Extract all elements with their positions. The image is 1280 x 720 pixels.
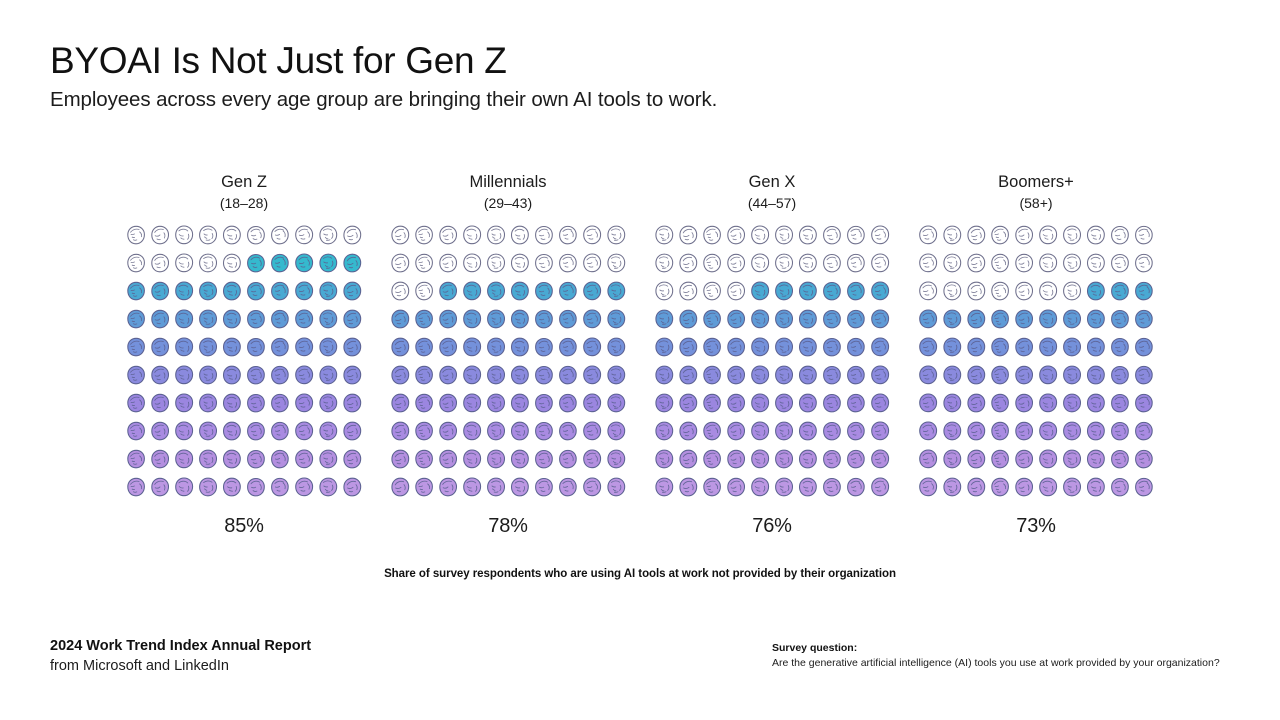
person-icon-empty bbox=[916, 279, 940, 307]
person-icon-filled bbox=[676, 475, 700, 503]
person-icon-filled bbox=[484, 475, 508, 503]
person-icon-empty bbox=[652, 279, 676, 307]
person-icon-empty bbox=[1036, 279, 1060, 307]
person-icon-filled bbox=[1084, 307, 1108, 335]
person-icon-filled bbox=[556, 447, 580, 475]
person-icon-filled bbox=[1132, 279, 1156, 307]
person-icon-filled bbox=[316, 279, 340, 307]
person-icon-filled bbox=[1132, 335, 1156, 363]
person-icon-filled bbox=[268, 335, 292, 363]
person-icon-filled bbox=[916, 335, 940, 363]
group-age-range: (29–43) bbox=[469, 194, 546, 212]
person-icon-filled bbox=[172, 279, 196, 307]
person-icon-filled bbox=[172, 475, 196, 503]
person-icon-filled bbox=[916, 475, 940, 503]
person-icon-filled bbox=[556, 279, 580, 307]
person-icon-filled bbox=[580, 391, 604, 419]
person-icon-filled bbox=[964, 335, 988, 363]
person-icon-filled bbox=[292, 307, 316, 335]
person-icon-filled bbox=[748, 363, 772, 391]
person-icon-empty bbox=[796, 251, 820, 279]
person-icon-filled bbox=[460, 363, 484, 391]
person-icon-empty bbox=[1012, 279, 1036, 307]
person-icon-filled bbox=[1108, 335, 1132, 363]
person-icon-filled bbox=[316, 475, 340, 503]
person-icon-filled bbox=[220, 391, 244, 419]
person-icon-filled bbox=[940, 335, 964, 363]
person-icon-filled bbox=[604, 391, 628, 419]
person-icon-filled bbox=[340, 307, 364, 335]
person-icon-filled bbox=[316, 363, 340, 391]
person-icon-empty bbox=[388, 279, 412, 307]
person-icon-filled bbox=[508, 307, 532, 335]
person-icon-filled bbox=[460, 447, 484, 475]
group-age-range: (58+) bbox=[998, 194, 1074, 212]
person-icon-filled bbox=[220, 307, 244, 335]
person-icon-empty bbox=[220, 251, 244, 279]
person-icon-filled bbox=[460, 475, 484, 503]
person-icon-empty bbox=[556, 223, 580, 251]
person-icon-filled bbox=[1132, 363, 1156, 391]
person-icon-filled bbox=[412, 419, 436, 447]
person-icon-empty bbox=[1084, 251, 1108, 279]
person-icon-filled bbox=[1108, 307, 1132, 335]
person-icon-filled bbox=[484, 419, 508, 447]
person-icon-filled bbox=[964, 419, 988, 447]
person-icon-filled bbox=[1012, 335, 1036, 363]
person-icon-filled bbox=[436, 307, 460, 335]
pictogram-grid bbox=[916, 223, 1156, 503]
person-icon-filled bbox=[820, 279, 844, 307]
person-icon-filled bbox=[172, 391, 196, 419]
person-icon-empty bbox=[1132, 223, 1156, 251]
person-icon-filled bbox=[292, 475, 316, 503]
person-icon-filled bbox=[868, 391, 892, 419]
person-icon-filled bbox=[436, 279, 460, 307]
person-icon-filled bbox=[1108, 419, 1132, 447]
person-icon-filled bbox=[388, 419, 412, 447]
person-icon-empty bbox=[1084, 223, 1108, 251]
person-icon-filled bbox=[844, 307, 868, 335]
person-icon-empty bbox=[1108, 251, 1132, 279]
person-icon-filled bbox=[916, 447, 940, 475]
person-icon-filled bbox=[700, 335, 724, 363]
person-icon-filled bbox=[868, 279, 892, 307]
person-icon-empty bbox=[388, 223, 412, 251]
person-icon-filled bbox=[1084, 335, 1108, 363]
person-icon-filled bbox=[868, 335, 892, 363]
person-icon-filled bbox=[916, 307, 940, 335]
person-icon-empty bbox=[340, 223, 364, 251]
person-icon-filled bbox=[340, 251, 364, 279]
person-icon-filled bbox=[124, 475, 148, 503]
person-icon-filled bbox=[1036, 335, 1060, 363]
person-icon-empty bbox=[1108, 223, 1132, 251]
person-icon-filled bbox=[604, 447, 628, 475]
person-icon-filled bbox=[1132, 391, 1156, 419]
person-icon-filled bbox=[412, 475, 436, 503]
person-icon-filled bbox=[436, 419, 460, 447]
person-icon-filled bbox=[1036, 363, 1060, 391]
survey-question-label: Survey question: bbox=[772, 641, 1242, 656]
person-icon-empty bbox=[484, 251, 508, 279]
person-icon-filled bbox=[820, 363, 844, 391]
person-icon-filled bbox=[340, 391, 364, 419]
person-icon-empty bbox=[1060, 251, 1084, 279]
person-icon-empty bbox=[988, 251, 1012, 279]
person-icon-filled bbox=[604, 419, 628, 447]
person-icon-empty bbox=[124, 223, 148, 251]
person-icon-filled bbox=[124, 391, 148, 419]
person-icon-filled bbox=[796, 419, 820, 447]
footer-attribution: 2024 Work Trend Index Annual Report from… bbox=[50, 637, 311, 676]
person-icon-filled bbox=[268, 419, 292, 447]
person-icon-empty bbox=[436, 251, 460, 279]
person-icon-filled bbox=[220, 419, 244, 447]
person-icon-empty bbox=[412, 279, 436, 307]
person-icon-filled bbox=[124, 447, 148, 475]
person-icon-filled bbox=[172, 447, 196, 475]
group-age-range: (44–57) bbox=[748, 194, 796, 212]
chart-caption: Share of survey respondents who are usin… bbox=[0, 568, 1280, 580]
person-icon-empty bbox=[412, 251, 436, 279]
person-icon-filled bbox=[172, 419, 196, 447]
person-icon-empty bbox=[652, 251, 676, 279]
person-icon-filled bbox=[244, 335, 268, 363]
person-icon-filled bbox=[772, 447, 796, 475]
person-icon-filled bbox=[940, 419, 964, 447]
person-icon-filled bbox=[148, 279, 172, 307]
person-icon-empty bbox=[844, 251, 868, 279]
person-icon-empty bbox=[820, 251, 844, 279]
person-icon-empty bbox=[676, 279, 700, 307]
person-icon-filled bbox=[388, 307, 412, 335]
person-icon-empty bbox=[532, 251, 556, 279]
person-icon-filled bbox=[1132, 475, 1156, 503]
person-icon-filled bbox=[556, 363, 580, 391]
person-icon-empty bbox=[556, 251, 580, 279]
person-icon-empty bbox=[460, 251, 484, 279]
person-icon-filled bbox=[220, 335, 244, 363]
person-icon-filled bbox=[772, 335, 796, 363]
person-icon-filled bbox=[652, 335, 676, 363]
person-icon-empty bbox=[916, 251, 940, 279]
person-icon-filled bbox=[820, 419, 844, 447]
person-icon-filled bbox=[340, 279, 364, 307]
person-icon-filled bbox=[1060, 391, 1084, 419]
person-icon-filled bbox=[1012, 391, 1036, 419]
person-icon-filled bbox=[940, 447, 964, 475]
person-icon-filled bbox=[748, 335, 772, 363]
person-icon-filled bbox=[532, 391, 556, 419]
person-icon-empty bbox=[772, 223, 796, 251]
person-icon-filled bbox=[292, 391, 316, 419]
person-icon-filled bbox=[508, 335, 532, 363]
person-icon-filled bbox=[556, 391, 580, 419]
header: BYOAI Is Not Just for Gen Z Employees ac… bbox=[50, 40, 1240, 112]
person-icon-empty bbox=[1036, 251, 1060, 279]
person-icon-empty bbox=[196, 223, 220, 251]
person-icon-filled bbox=[244, 447, 268, 475]
person-icon-filled bbox=[796, 335, 820, 363]
person-icon-filled bbox=[316, 251, 340, 279]
person-icon-filled bbox=[676, 363, 700, 391]
person-icon-empty bbox=[700, 279, 724, 307]
person-icon-empty bbox=[172, 223, 196, 251]
person-icon-empty bbox=[148, 251, 172, 279]
person-icon-filled bbox=[316, 419, 340, 447]
person-icon-filled bbox=[868, 419, 892, 447]
person-icon-filled bbox=[532, 279, 556, 307]
person-icon-filled bbox=[244, 419, 268, 447]
person-icon-filled bbox=[484, 447, 508, 475]
person-icon-filled bbox=[772, 307, 796, 335]
person-icon-empty bbox=[988, 223, 1012, 251]
person-icon-empty bbox=[964, 279, 988, 307]
group-name: Millennials bbox=[469, 172, 546, 193]
person-icon-filled bbox=[724, 335, 748, 363]
person-icon-filled bbox=[604, 335, 628, 363]
person-icon-filled bbox=[196, 447, 220, 475]
person-icon-filled bbox=[460, 279, 484, 307]
person-icon-filled bbox=[196, 335, 220, 363]
person-icon-filled bbox=[412, 307, 436, 335]
person-icon-empty bbox=[796, 223, 820, 251]
person-icon-empty bbox=[964, 223, 988, 251]
person-icon-filled bbox=[652, 475, 676, 503]
person-icon-empty bbox=[1060, 223, 1084, 251]
person-icon-filled bbox=[604, 307, 628, 335]
person-icon-filled bbox=[1012, 363, 1036, 391]
person-icon-empty bbox=[268, 223, 292, 251]
person-icon-filled bbox=[532, 419, 556, 447]
person-icon-filled bbox=[580, 279, 604, 307]
person-icon-filled bbox=[220, 279, 244, 307]
age-group-boomers: Boomers+(58+)73% bbox=[908, 172, 1164, 538]
person-icon-empty bbox=[244, 223, 268, 251]
person-icon-filled bbox=[964, 307, 988, 335]
person-icon-filled bbox=[244, 391, 268, 419]
person-icon-filled bbox=[148, 307, 172, 335]
group-name: Boomers+ bbox=[998, 172, 1074, 193]
person-icon-filled bbox=[388, 447, 412, 475]
person-icon-filled bbox=[796, 363, 820, 391]
pictogram-grid bbox=[388, 223, 628, 503]
person-icon-filled bbox=[868, 363, 892, 391]
person-icon-filled bbox=[220, 475, 244, 503]
group-percentage: 76% bbox=[752, 515, 791, 538]
person-icon-empty bbox=[724, 223, 748, 251]
person-icon-filled bbox=[748, 307, 772, 335]
person-icon-filled bbox=[412, 363, 436, 391]
person-icon-filled bbox=[604, 475, 628, 503]
person-icon-filled bbox=[316, 447, 340, 475]
person-icon-filled bbox=[172, 363, 196, 391]
person-icon-filled bbox=[1132, 307, 1156, 335]
person-icon-empty bbox=[1012, 223, 1036, 251]
person-icon-empty bbox=[940, 279, 964, 307]
person-icon-filled bbox=[1084, 419, 1108, 447]
person-icon-filled bbox=[508, 475, 532, 503]
person-icon-filled bbox=[988, 363, 1012, 391]
person-icon-empty bbox=[532, 223, 556, 251]
person-icon-empty bbox=[820, 223, 844, 251]
person-icon-empty bbox=[220, 223, 244, 251]
person-icon-filled bbox=[268, 279, 292, 307]
person-icon-filled bbox=[820, 475, 844, 503]
person-icon-filled bbox=[676, 419, 700, 447]
person-icon-filled bbox=[292, 279, 316, 307]
person-icon-filled bbox=[700, 391, 724, 419]
person-icon-filled bbox=[1084, 391, 1108, 419]
person-icon-filled bbox=[292, 363, 316, 391]
person-icon-filled bbox=[1060, 419, 1084, 447]
person-icon-filled bbox=[700, 307, 724, 335]
person-icon-filled bbox=[796, 475, 820, 503]
person-icon-filled bbox=[868, 475, 892, 503]
person-icon-filled bbox=[724, 475, 748, 503]
person-icon-filled bbox=[436, 447, 460, 475]
person-icon-filled bbox=[388, 335, 412, 363]
group-percentage: 73% bbox=[1016, 515, 1055, 538]
page-title: BYOAI Is Not Just for Gen Z bbox=[50, 40, 1240, 81]
person-icon-filled bbox=[988, 447, 1012, 475]
person-icon-filled bbox=[772, 391, 796, 419]
person-icon-filled bbox=[292, 447, 316, 475]
person-icon-filled bbox=[748, 475, 772, 503]
person-icon-filled bbox=[676, 335, 700, 363]
person-icon-filled bbox=[532, 335, 556, 363]
person-icon-filled bbox=[508, 391, 532, 419]
person-icon-filled bbox=[412, 391, 436, 419]
person-icon-empty bbox=[940, 251, 964, 279]
person-icon-filled bbox=[676, 307, 700, 335]
person-icon-filled bbox=[748, 279, 772, 307]
person-icon-filled bbox=[1084, 279, 1108, 307]
age-group-gen-z: Gen Z(18–28)85% bbox=[116, 172, 372, 538]
group-name: Gen Z bbox=[220, 172, 268, 193]
person-icon-filled bbox=[340, 363, 364, 391]
group-header: Millennials(29–43) bbox=[469, 172, 546, 212]
person-icon-empty bbox=[1012, 251, 1036, 279]
person-icon-filled bbox=[316, 335, 340, 363]
person-icon-filled bbox=[820, 307, 844, 335]
person-icon-filled bbox=[964, 447, 988, 475]
person-icon-empty bbox=[196, 251, 220, 279]
person-icon-filled bbox=[1084, 447, 1108, 475]
person-icon-filled bbox=[868, 447, 892, 475]
person-icon-filled bbox=[268, 251, 292, 279]
person-icon-filled bbox=[484, 307, 508, 335]
person-icon-filled bbox=[508, 447, 532, 475]
person-icon-filled bbox=[1108, 279, 1132, 307]
person-icon-filled bbox=[652, 307, 676, 335]
person-icon-filled bbox=[124, 419, 148, 447]
person-icon-filled bbox=[436, 363, 460, 391]
person-icon-filled bbox=[580, 307, 604, 335]
person-icon-filled bbox=[1060, 335, 1084, 363]
person-icon-empty bbox=[508, 223, 532, 251]
person-icon-empty bbox=[1132, 251, 1156, 279]
person-icon-filled bbox=[556, 335, 580, 363]
person-icon-filled bbox=[172, 335, 196, 363]
person-icon-filled bbox=[460, 419, 484, 447]
person-icon-filled bbox=[1036, 419, 1060, 447]
person-icon-filled bbox=[844, 391, 868, 419]
person-icon-filled bbox=[1036, 475, 1060, 503]
person-icon-filled bbox=[604, 363, 628, 391]
person-icon-filled bbox=[676, 391, 700, 419]
person-icon-filled bbox=[556, 307, 580, 335]
person-icon-filled bbox=[604, 279, 628, 307]
person-icon-filled bbox=[292, 335, 316, 363]
person-icon-empty bbox=[580, 223, 604, 251]
person-icon-filled bbox=[532, 307, 556, 335]
person-icon-filled bbox=[1108, 447, 1132, 475]
person-icon-filled bbox=[508, 279, 532, 307]
person-icon-filled bbox=[988, 307, 1012, 335]
person-icon-empty bbox=[604, 251, 628, 279]
person-icon-filled bbox=[412, 447, 436, 475]
person-icon-filled bbox=[532, 475, 556, 503]
person-icon-filled bbox=[700, 363, 724, 391]
person-icon-empty bbox=[508, 251, 532, 279]
person-icon-empty bbox=[460, 223, 484, 251]
person-icon-filled bbox=[388, 391, 412, 419]
person-icon-filled bbox=[940, 475, 964, 503]
person-icon-filled bbox=[748, 447, 772, 475]
person-icon-filled bbox=[1060, 363, 1084, 391]
person-icon-filled bbox=[148, 447, 172, 475]
report-title: 2024 Work Trend Index Annual Report bbox=[50, 637, 311, 657]
person-icon-filled bbox=[1012, 419, 1036, 447]
report-source: from Microsoft and LinkedIn bbox=[50, 657, 311, 677]
person-icon-empty bbox=[868, 251, 892, 279]
person-icon-filled bbox=[268, 307, 292, 335]
person-icon-filled bbox=[940, 391, 964, 419]
person-icon-filled bbox=[1060, 307, 1084, 335]
person-icon-filled bbox=[268, 391, 292, 419]
person-icon-filled bbox=[1036, 391, 1060, 419]
person-icon-filled bbox=[772, 279, 796, 307]
person-icon-filled bbox=[292, 419, 316, 447]
person-icon-empty bbox=[964, 251, 988, 279]
person-icon-empty bbox=[724, 251, 748, 279]
person-icon-empty bbox=[700, 251, 724, 279]
person-icon-filled bbox=[748, 391, 772, 419]
person-icon-filled bbox=[724, 447, 748, 475]
person-icon-filled bbox=[268, 475, 292, 503]
person-icon-filled bbox=[724, 391, 748, 419]
person-icon-filled bbox=[1108, 475, 1132, 503]
person-icon-filled bbox=[964, 391, 988, 419]
person-icon-filled bbox=[412, 335, 436, 363]
person-icon-filled bbox=[1060, 475, 1084, 503]
person-icon-filled bbox=[916, 419, 940, 447]
person-icon-filled bbox=[196, 391, 220, 419]
pictogram-grid bbox=[124, 223, 364, 503]
person-icon-empty bbox=[316, 223, 340, 251]
person-icon-filled bbox=[844, 279, 868, 307]
person-icon-filled bbox=[724, 363, 748, 391]
person-icon-filled bbox=[916, 391, 940, 419]
pictogram-grid bbox=[652, 223, 892, 503]
person-icon-filled bbox=[124, 335, 148, 363]
person-icon-filled bbox=[1036, 447, 1060, 475]
person-icon-filled bbox=[148, 419, 172, 447]
person-icon-empty bbox=[436, 223, 460, 251]
person-icon-filled bbox=[484, 391, 508, 419]
